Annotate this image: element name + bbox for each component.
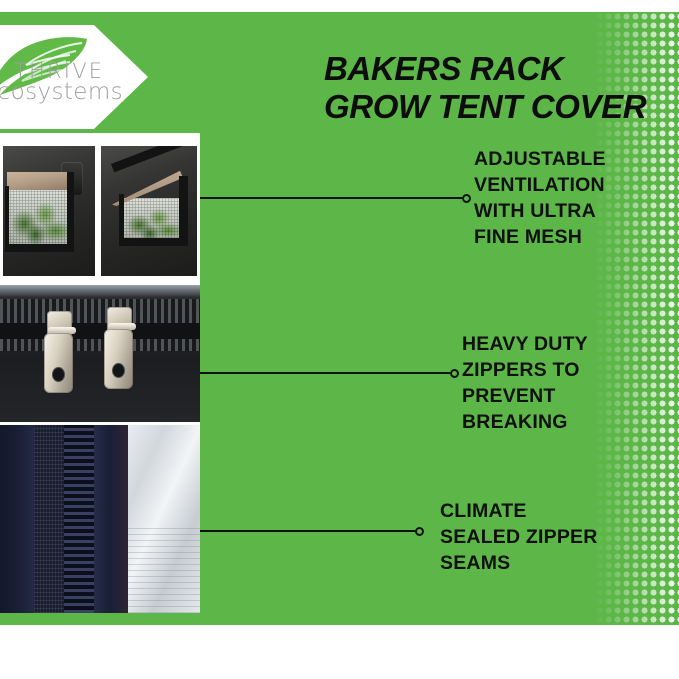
title-line-1: BAKERS RACK <box>324 50 654 88</box>
feature-seams-line-3: SEAMS <box>440 550 598 576</box>
feature-seams-line-2: SEALED ZIPPER <box>440 524 598 550</box>
feature-ventilation-line-4: FINE MESH <box>474 224 606 250</box>
photo-mesh-window-right <box>101 146 197 276</box>
feature-zippers-line-2: ZIPPERS TO <box>462 357 588 383</box>
feature-ventilation-line-2: VENTILATION <box>474 172 606 198</box>
zipper-pull-right <box>104 307 133 389</box>
feature-label-zippers: HEAVY DUTY ZIPPERS TO PREVENT BREAKING <box>462 331 588 436</box>
product-photo-column <box>0 133 200 613</box>
photo-zipper-pulls <box>0 285 200 422</box>
logo-subtext: ecosystems <box>0 81 123 104</box>
leader-dot-seams <box>415 527 424 536</box>
leader-line-zippers <box>200 372 450 374</box>
leader-dot-ventilation <box>462 194 471 203</box>
feature-ventilation-line-3: WITH ULTRA <box>474 198 606 224</box>
zipper-pull-left <box>44 311 73 393</box>
feature-seams-line-1: CLIMATE <box>440 498 598 524</box>
page-title: BAKERS RACK GROW TENT COVER <box>324 50 654 125</box>
photo-zipper-seam <box>0 425 200 613</box>
feature-zippers-line-3: PREVENT <box>462 383 588 409</box>
photo-mesh-window-left <box>3 146 95 276</box>
feature-zippers-line-4: BREAKING <box>462 409 588 435</box>
feature-ventilation-line-1: ADJUSTABLE <box>474 146 606 172</box>
leader-dot-zippers <box>450 369 459 378</box>
leader-line-ventilation <box>200 197 462 199</box>
title-line-2: GROW TENT COVER <box>324 88 654 126</box>
feature-zippers-line-1: HEAVY DUTY <box>462 331 588 357</box>
feature-label-ventilation: ADJUSTABLE VENTILATION WITH ULTRA FINE M… <box>474 146 606 251</box>
feature-label-seams: CLIMATE SEALED ZIPPER SEAMS <box>440 498 598 576</box>
leader-line-seams <box>200 530 415 532</box>
infographic-canvas: THRIVE ecosystems BAKERS RACK GROW TENT … <box>0 0 679 679</box>
